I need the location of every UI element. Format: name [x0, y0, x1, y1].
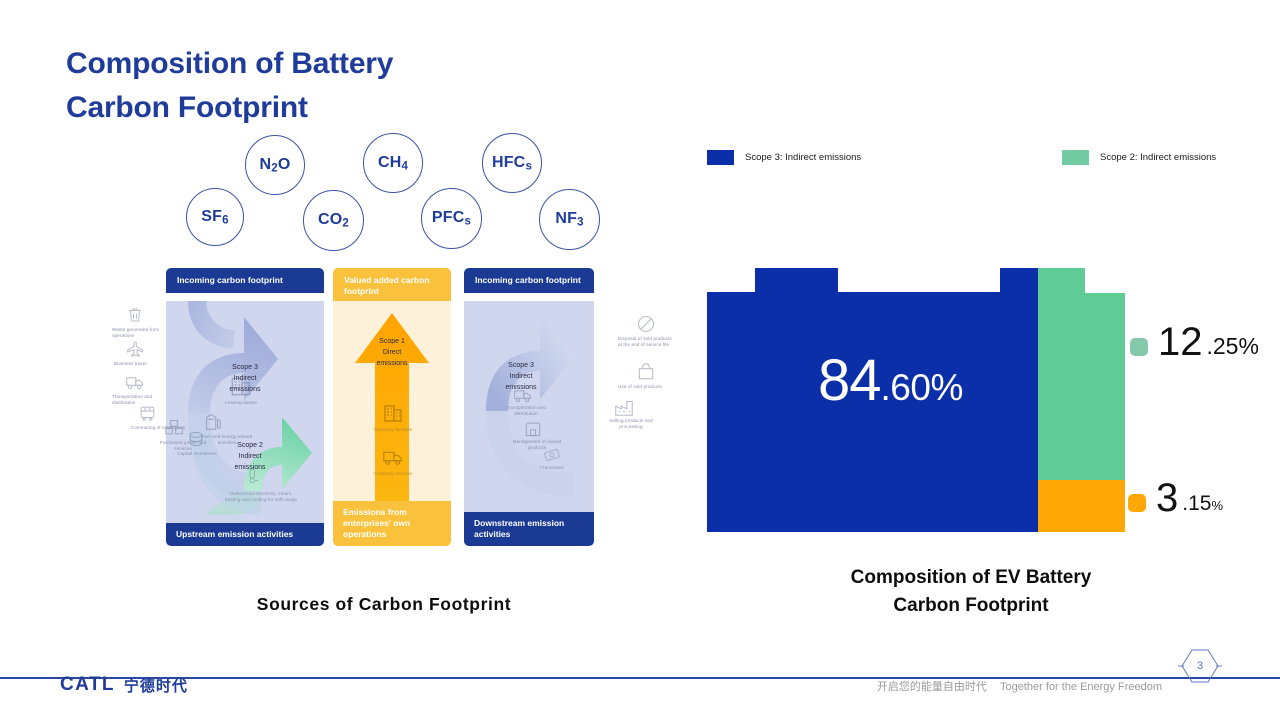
slide-root: Composition of Battery Carbon Footprint …	[0, 0, 1280, 720]
upstream-item-purchased: Purchased goods and services	[152, 440, 214, 452]
legend-label-scope2: Scope 2: Indirect emissions	[1100, 152, 1216, 163]
caption-ev-line1: Composition of EV Battery	[851, 567, 1092, 588]
trash-icon	[126, 306, 144, 324]
diagram-panel-upstream: Incoming carbon footprint	[166, 268, 324, 546]
legend-item-scope2[interactable]: Scope 2: Indirect emissions	[1062, 150, 1216, 165]
gas-bubble-n2o: N2O	[245, 135, 305, 195]
gas-bubble-co2-label: CO2	[318, 211, 349, 230]
panel-downstream-header: Incoming carbon footprint	[464, 268, 594, 293]
upstream-item-travel: Business travel	[114, 361, 172, 367]
gas-bubble-pfcs: PFCs	[421, 188, 482, 249]
upstream-flow-graphic	[166, 301, 324, 546]
diagram-panel-downstream: Incoming carbon footprint Scope 3 Indire…	[464, 268, 594, 546]
shop-icon	[522, 419, 544, 439]
upstream-external-items: Waste generated from operations Business…	[112, 300, 182, 440]
value-scope2-frac: .25%	[1207, 335, 1259, 358]
gas-bubble-hfcs: HFCs	[482, 133, 542, 193]
gas-bubble-nf3: NF3	[539, 189, 600, 250]
logo-latin-text: CATL	[60, 674, 115, 696]
panel-upstream-footer: Upstream emission activities	[166, 523, 324, 546]
gas-bubble-pfcs-label: PFCs	[432, 209, 471, 228]
bar-segment-scope1[interactable]	[1038, 480, 1125, 532]
value-scope1-frac: .15%	[1182, 493, 1223, 514]
upstream-item-leasing: Leasing assets	[212, 400, 270, 406]
page-number-badge: 3	[1178, 646, 1222, 686]
footer-tagline: 开启您的能量自由时代 Together for the Energy Freed…	[877, 678, 1162, 694]
downstream-item-selling: Selling products and processing	[600, 418, 662, 430]
bus-icon	[138, 404, 157, 423]
upstream-item-waste: Waste generated from operations	[112, 327, 174, 339]
tagline-chinese: 开启您的能量自由时代	[877, 681, 987, 693]
value-scope2: 12 .25%	[1130, 324, 1259, 361]
own-item-vehicles: Company vehicles	[362, 471, 424, 477]
gas-bubble-ch4-label: CH4	[378, 154, 408, 173]
value-scope1: 3 .15%	[1128, 480, 1223, 517]
diagram-panel-own-operations: Valued added carbon footprint Scope 1 Di…	[333, 268, 451, 546]
gas-bubble-ch4: CH4	[363, 133, 423, 193]
legend-swatch-scope3	[707, 150, 734, 165]
page-title-line2: Carbon Footprint	[66, 86, 393, 130]
value-scope2-marker	[1130, 338, 1148, 356]
value-scope2-int: 12	[1158, 324, 1203, 361]
no-entry-icon	[636, 314, 656, 334]
upstream-item-outsourced: Outsourced electricity, steam, heating a…	[222, 491, 300, 503]
panel-upstream-header: Incoming carbon footprint	[166, 268, 324, 293]
downstream-item-franchisee: Franchisee	[534, 465, 570, 471]
panel-upstream-body: Scope 3 Indirect emissions Scope 2 Indir…	[166, 301, 324, 546]
building-icon	[228, 373, 254, 399]
factory-icon	[612, 396, 636, 418]
value-scope3-int: 84	[818, 348, 881, 413]
gas-bubble-n2o-label: N2O	[259, 156, 290, 175]
delivery-truck-icon	[512, 385, 534, 405]
value-scope1-marker	[1128, 494, 1146, 512]
caption-sources: Sources of Carbon Footprint	[234, 594, 534, 615]
boxes-icon	[164, 418, 184, 438]
panel-own-header: Valued added carbon footprint	[333, 268, 451, 305]
panel-own-footer: Emissions from enterprises' own operatio…	[333, 501, 451, 546]
gas-bubble-nf3-label: NF3	[555, 210, 583, 229]
downstream-item-use: Use of sold products	[618, 384, 674, 390]
caption-ev-battery: Composition of EV Battery Carbon Footpri…	[812, 564, 1130, 619]
thermometer-icon	[244, 465, 262, 487]
truck-icon	[124, 372, 146, 392]
downstream-item-transport: Transportation and distribution	[498, 405, 554, 417]
company-facility-icon	[381, 401, 405, 425]
own-scope1-label: Scope 1 Direct emissions	[333, 337, 451, 370]
gas-bubble-co2: CO2	[303, 190, 364, 251]
downstream-item-disposal: Disposal of sold products at the end of …	[618, 336, 676, 348]
legend-swatch-scope2	[1062, 150, 1089, 165]
catl-logo: CATL 宁德时代	[60, 674, 188, 696]
caption-ev-line2: Carbon Footprint	[893, 595, 1048, 616]
panel-downstream-footer: Downstream emission activities	[464, 512, 594, 546]
page-title: Composition of Battery Carbon Footprint	[66, 42, 393, 129]
legend-label-scope3: Scope 3: Indirect emissions	[745, 152, 861, 163]
value-scope1-int: 3	[1156, 480, 1178, 517]
downstream-external-items: Disposal of sold products at the end of …	[600, 312, 678, 452]
logo-chinese-text: 宁德时代	[124, 675, 188, 696]
gas-bubble-sf6-label: SF6	[201, 208, 228, 227]
bag-icon	[636, 362, 656, 382]
legend-item-scope3[interactable]: Scope 3: Indirect emissions	[707, 150, 861, 165]
page-title-line1: Composition of Battery	[66, 42, 393, 86]
panel-downstream-body: Scope 3 Indirect emissions Transportatio…	[464, 301, 594, 546]
gas-bubble-hfcs-label: HFCs	[492, 154, 532, 173]
own-item-facilities: Company facilities	[362, 427, 424, 433]
airplane-icon	[126, 340, 145, 359]
value-scope3-frac: .60%	[881, 367, 963, 408]
company-vehicle-icon	[381, 446, 405, 468]
gas-bubble-sf6: SF6	[186, 188, 244, 246]
page-number-text: 3	[1178, 646, 1222, 686]
bar-segment-scope2[interactable]	[1038, 268, 1125, 480]
value-scope3: 84.60%	[818, 352, 963, 410]
tagline-english: Together for the Energy Freedom	[1000, 681, 1162, 693]
